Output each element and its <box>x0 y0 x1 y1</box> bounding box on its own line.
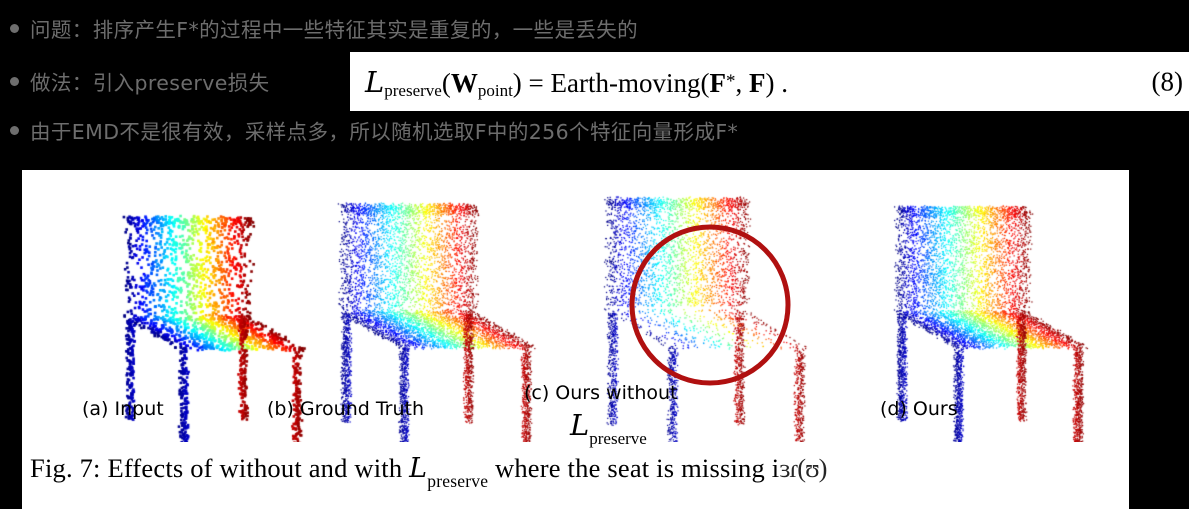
bullet-item-0: 问题：排序产生F*的过程中一些特征其实是重复的，一些是丢失的 <box>10 13 638 43</box>
equation-equals: = <box>529 68 544 99</box>
equation-arg-subscript: point <box>478 81 513 101</box>
equation-rhs-arg2: F <box>749 68 766 99</box>
caption-math-subscript: preserve <box>427 471 488 491</box>
equation-rhs-function: Earth-moving <box>551 68 701 99</box>
caption-suffix: where the seat is missing i <box>488 453 779 483</box>
equation-callout: Lpreserve(Wpoint) = Earth-moving(F*, F) … <box>350 52 1189 111</box>
bullet-item-1: 做法：引入preserve损失 <box>10 66 270 96</box>
panel-label-ground-truth: (b) Ground Truth <box>267 398 424 420</box>
bullet-dot-icon <box>10 77 19 86</box>
caption-garbled-tail: ɜɾ(ʊ) <box>779 453 826 483</box>
panel-label-input: (a) Input <box>82 398 164 420</box>
equation-rhs-open: ( <box>701 68 710 99</box>
panel-label-ours: (d) Ours <box>880 398 958 420</box>
equation-arg-symbol: W <box>451 68 478 99</box>
equation-lhs-subscript: preserve <box>384 81 442 101</box>
equation-rhs-comma: , <box>736 68 743 99</box>
caption-prefix: Fig. 7: Effects of without and with <box>30 453 409 483</box>
figure-panel: (a) Input (b) Ground Truth (c) Ours with… <box>22 170 1129 509</box>
equation-rhs-close: ) <box>766 68 775 99</box>
bullet-dot-icon <box>10 126 19 135</box>
bullet-dot-icon <box>10 24 19 33</box>
equation-arg-close: ) <box>513 68 522 99</box>
panel-label-ours-without: (c) Ours without <box>524 382 677 404</box>
equation-lhs-symbol: L <box>365 65 384 99</box>
bullet-label-0: 问题：排序产生F*的过程中一些特征其实是重复的，一些是丢失的 <box>30 13 638 43</box>
bullet-label-1: 做法：引入preserve损失 <box>30 66 270 96</box>
equation-arg-open: ( <box>442 68 451 99</box>
panel-label-math-subscript: preserve <box>589 429 647 448</box>
caption-math-symbol: L <box>409 453 427 484</box>
figure-caption: Fig. 7: Effects of without and with Lpre… <box>30 453 1129 488</box>
panel-label-math-symbol: L <box>570 408 589 442</box>
equation-expression: Lpreserve(Wpoint) = Earth-moving(F*, F) … <box>365 65 788 99</box>
equation-rhs-arg1: F <box>710 68 727 99</box>
bullet-label-2: 由于EMD不是很有效，采样点多，所以随机选取F中的256个特征向量形成F* <box>30 115 738 145</box>
equation-period: . <box>781 68 788 99</box>
equation-number: (8) <box>1152 66 1183 97</box>
equation-rhs-arg1-superscript: * <box>726 71 736 93</box>
bullet-item-2: 由于EMD不是很有效，采样点多，所以随机选取F中的256个特征向量形成F* <box>10 115 738 145</box>
panel-label-ours-without-subscript: Lpreserve <box>570 408 647 445</box>
